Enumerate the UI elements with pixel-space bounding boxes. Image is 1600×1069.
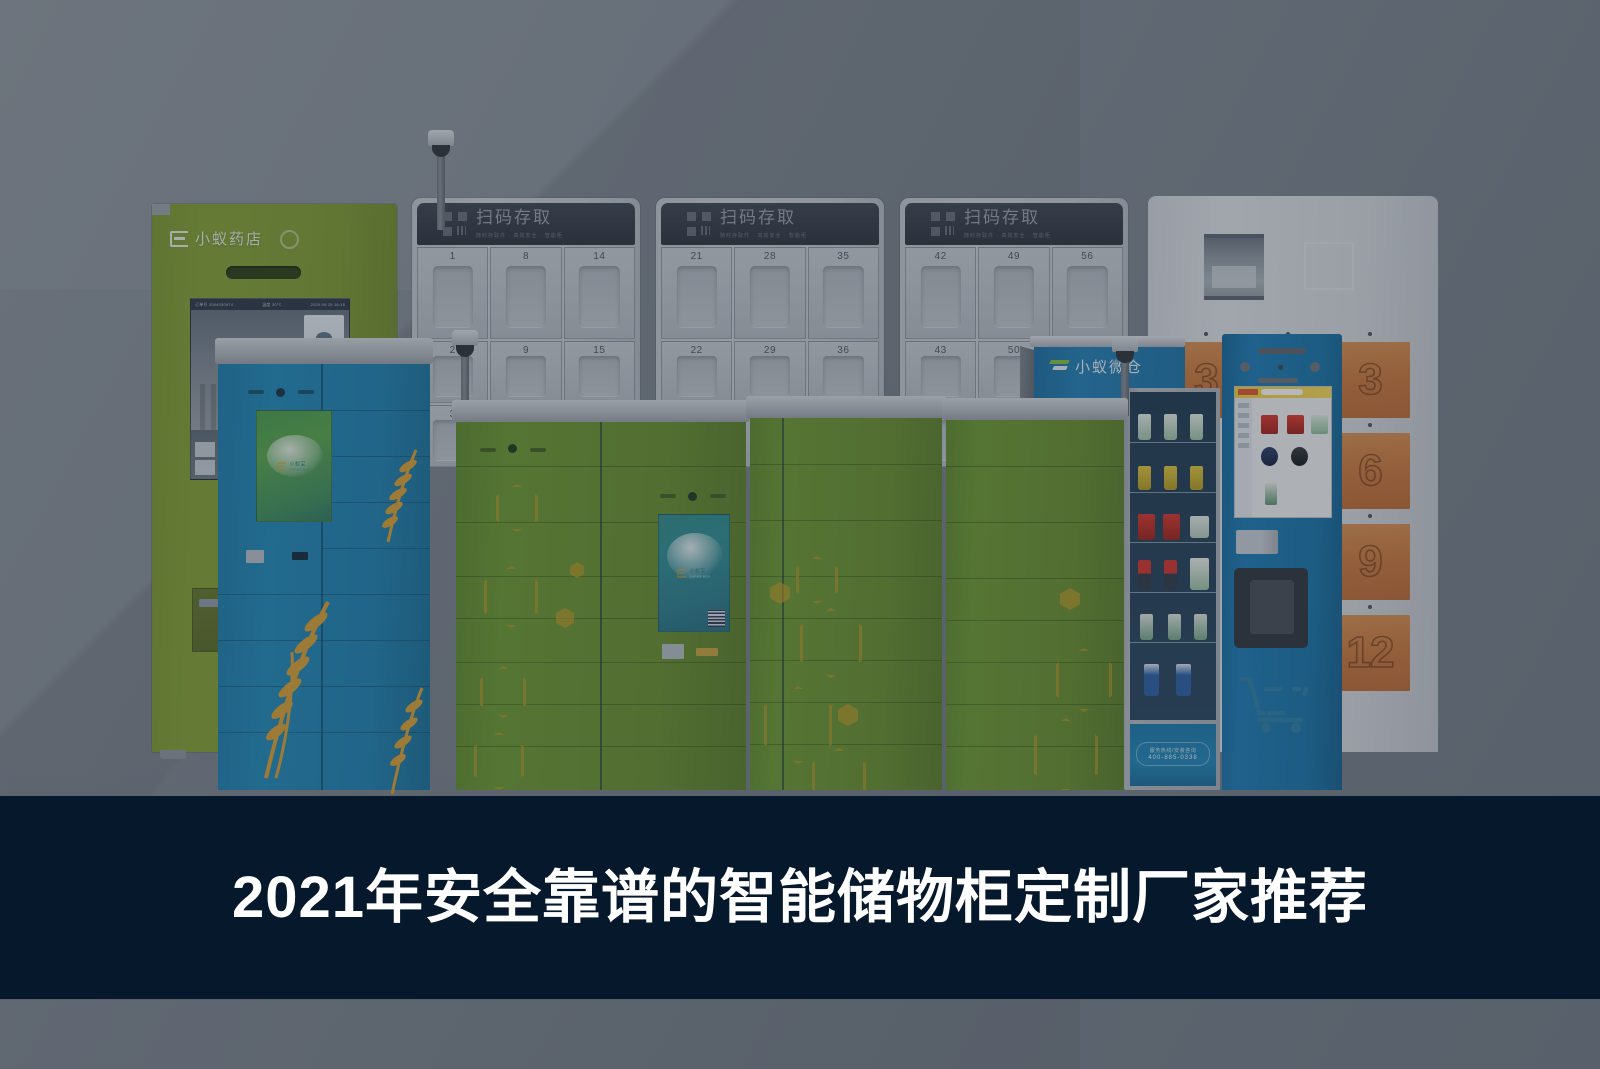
catalog-logo-icon (1238, 389, 1258, 395)
product-bottle (1138, 414, 1151, 440)
locker-number: 49 (979, 251, 1048, 262)
locker-indicator-slot (480, 448, 496, 452)
product-can (1164, 466, 1177, 490)
locker-top-cap (452, 400, 750, 422)
orange-panel[interactable]: 12 (1330, 615, 1410, 691)
category-item[interactable] (1238, 403, 1249, 408)
locker-cell[interactable]: 9 (490, 341, 561, 403)
locker-number: 29 (735, 345, 804, 356)
locker-window (579, 356, 619, 397)
green-smart-locker-left[interactable]: 小蚁宝 SUPER BOX (456, 400, 746, 790)
locker-camera-icon (688, 492, 697, 501)
locker-cell[interactable]: 49 (978, 247, 1049, 339)
screen-brand-logo: 小蚁宝 SUPER BOX (677, 568, 710, 579)
canopy-cap (1030, 336, 1185, 347)
locker-window (677, 356, 717, 397)
product-box (1190, 558, 1209, 590)
panel-dot (1368, 423, 1372, 427)
scan-locker-bank-1[interactable]: 扫码存取 随时存取件 · 高效安全 · 智能柜 1 8 14 2 9 15 3 … (412, 198, 640, 434)
locker-number: 28 (735, 251, 804, 262)
locker-cell[interactable]: 56 (1052, 247, 1123, 339)
panel-dot (1368, 332, 1372, 336)
catalog-product[interactable] (1287, 415, 1304, 434)
catalog-product[interactable] (1291, 447, 1308, 466)
kiosk-sensor-dot (1310, 362, 1320, 372)
locker-window (750, 266, 790, 328)
green-smart-locker-middle[interactable] (750, 396, 942, 790)
kiosk-camera-icon (1278, 365, 1283, 370)
ant-leaf-icon (1050, 360, 1069, 373)
screen-brand-label: 小蚁宝 (289, 461, 310, 468)
product-box (1190, 516, 1209, 538)
hexagon-graphic (496, 484, 538, 532)
kiosk-top-cut (152, 204, 170, 215)
locker-body: 小蚁宝 SUPER BOX (456, 422, 746, 790)
locker-camera-icon (276, 388, 285, 397)
product-bottle (1164, 414, 1177, 440)
hotline-label: 服务热线/安装咨询 (1150, 747, 1197, 754)
thumbnail-item (195, 460, 215, 475)
scan-bank-title: 扫码存取 (476, 208, 552, 227)
locker-printer-slot[interactable] (696, 648, 718, 656)
category-item[interactable] (1238, 423, 1249, 428)
orange-panel[interactable]: 6 (1330, 433, 1410, 509)
locker-body (946, 420, 1124, 790)
kiosk-foot (160, 750, 186, 759)
wheat-sheaf-graphic (368, 682, 434, 802)
product-bottle (1176, 664, 1191, 696)
vending-display-case (1130, 392, 1216, 720)
hexagon-graphic (812, 748, 866, 790)
kiosk-screen-statusbar: 订单号 2004030974 温度 30°C 2020.09.25 16:15 (191, 299, 349, 310)
product-bottle (1194, 614, 1207, 640)
locker-window (921, 356, 961, 397)
product-box (1138, 514, 1155, 540)
page-title: 2021年安全靠谱的智能储物柜定制厂家推荐 (232, 869, 1368, 927)
locker-body (750, 418, 942, 790)
product-bottle (1144, 664, 1159, 696)
right-vending-kiosk[interactable] (1222, 334, 1342, 790)
locker-cell[interactable]: 28 (734, 247, 805, 339)
product-can (1138, 466, 1151, 490)
locker-indicator-slot (710, 494, 726, 498)
scan-bank-title: 扫码存取 (720, 208, 796, 227)
locker-scanner[interactable] (292, 552, 308, 560)
vending-machine[interactable]: 服务热线/安装咨询 400-885-0338 (1124, 388, 1220, 790)
locker-window (1067, 266, 1107, 328)
locker-window (677, 266, 717, 328)
orange-panel[interactable]: 9 (1330, 524, 1410, 600)
screen-brand-label: 小蚁宝 (689, 568, 710, 575)
locker-cell[interactable]: 15 (564, 341, 635, 403)
wheat-sheaf-graphic (368, 446, 428, 556)
hexagon-graphic (764, 686, 832, 764)
catalog-product[interactable] (1261, 447, 1278, 466)
dome-camera-icon (452, 330, 478, 408)
catalog-search-box[interactable] (1261, 389, 1303, 395)
hexagon-graphic (796, 556, 838, 604)
locker-window (579, 266, 619, 328)
orange-panel[interactable]: 3 (1330, 342, 1410, 418)
vending-hotline-badge: 服务热线/安装咨询 400-885-0338 (1136, 742, 1210, 766)
locker-window (994, 266, 1034, 328)
panel-dot (1368, 514, 1372, 518)
kiosk-dispense-slot[interactable] (226, 266, 301, 279)
cabinet-poster-image (1204, 234, 1264, 300)
locker-cell[interactable]: 43 (905, 341, 976, 403)
dome-camera-icon (428, 130, 454, 230)
locker-camera-icon (508, 444, 517, 453)
locker-window (506, 266, 546, 328)
orange-panel-number: 12 (1347, 631, 1394, 675)
caption-band: 2021年安全靠谱的智能储物柜定制厂家推荐 (0, 796, 1600, 999)
pharmacy-brand-label: 小蚁药店 (195, 228, 263, 249)
locker-number: 22 (662, 345, 731, 356)
hexagon-graphic (480, 666, 526, 718)
card-reader[interactable] (1236, 530, 1278, 554)
locker-number: 9 (491, 345, 560, 356)
hotline-number: 400-885-0338 (1148, 755, 1197, 761)
pharmacy-kiosk-logo: 小蚁药店 (170, 228, 263, 249)
locker-window (921, 266, 961, 328)
category-item[interactable] (1238, 433, 1249, 438)
locker-indicator-slot (298, 390, 314, 394)
hexagon-graphic (1034, 718, 1098, 790)
thumbnail-item (195, 442, 215, 457)
orange-panel-number: 6 (1358, 449, 1381, 493)
screen-brand-logo: 小蚁宝 SUPER BOX (277, 461, 310, 472)
locker-top-cap (746, 396, 946, 418)
catalog-category-sidebar[interactable] (1235, 398, 1252, 517)
product-bottle (1140, 614, 1153, 640)
locker-indicator-slot (660, 494, 676, 498)
locker-cell[interactable]: 1 (417, 247, 488, 339)
locker-touchscreen[interactable]: 小蚁宝 SUPER BOX (256, 410, 332, 522)
panel-dot (1368, 605, 1372, 609)
scan-bank-header: 扫码存取 随时存取件 · 高效安全 · 智能柜 (905, 203, 1123, 245)
cabinet-ghost-panel (1304, 242, 1354, 290)
product-can (1190, 466, 1203, 490)
locker-number: 8 (491, 251, 560, 262)
locker-cell[interactable]: 35 (808, 247, 879, 339)
hexagon-graphic (770, 582, 790, 604)
category-item[interactable] (1238, 443, 1249, 448)
locker-cell[interactable]: 22 (661, 341, 732, 403)
kiosk-sensor-dot (1240, 362, 1250, 372)
locker-indicator-slot (530, 448, 546, 452)
locker-keypad[interactable] (662, 644, 684, 659)
catalog-header (1235, 387, 1331, 398)
product-bottle (1190, 414, 1203, 440)
scan-bank-title: 扫码存取 (964, 208, 1040, 227)
kiosk-indicator-ring (280, 230, 299, 249)
locker-keypad[interactable] (246, 550, 264, 563)
locker-cell[interactable]: 8 (490, 247, 561, 339)
hexagon-graphic (556, 608, 574, 628)
locker-number: 42 (906, 251, 975, 262)
kiosk-speaker-slot (1258, 378, 1298, 383)
qr-code-icon (931, 212, 955, 236)
locker-number: 1 (418, 251, 487, 262)
locker-number: 43 (906, 345, 975, 356)
catalog-product[interactable] (1311, 415, 1328, 434)
locker-top-cap (215, 338, 433, 364)
locker-window (823, 266, 863, 328)
scan-bank-subtitle: 随时存取件 · 高效安全 · 智能柜 (476, 232, 563, 239)
locker-cell[interactable]: 21 (661, 247, 732, 339)
screen-brand-sub: SUPER BOX (289, 468, 310, 472)
locker-number: 35 (809, 251, 878, 262)
kiosk-order-id: 订单号 2004030974 (195, 302, 233, 308)
category-item[interactable] (1238, 413, 1249, 418)
scan-bank-subtitle: 随时存取件 · 高效安全 · 智能柜 (964, 232, 1051, 239)
locker-window (750, 356, 790, 397)
screen-brand-sub: SUPER BOX (689, 575, 710, 579)
scan-bank-subtitle: 随时存取件 · 高效安全 · 智能柜 (720, 232, 807, 239)
locker-cell[interactable]: 14 (564, 247, 635, 339)
hexagon-graphic (1056, 648, 1112, 712)
qr-code-icon (687, 212, 711, 236)
locker-cell[interactable]: 29 (734, 341, 805, 403)
locker-window (506, 356, 546, 397)
locker-body: 小蚁宝 SUPER BOX (218, 364, 430, 790)
product-bottle (1164, 560, 1177, 590)
product-bottle (1138, 560, 1151, 590)
product-bottle (1168, 614, 1181, 640)
locker-touchscreen[interactable]: 小蚁宝 SUPER BOX (658, 514, 730, 632)
pin-pad[interactable] (1234, 568, 1308, 648)
locker-number: 15 (565, 345, 634, 356)
kiosk-screen-thumbnails (195, 442, 215, 475)
kiosk-catalog-screen[interactable] (1234, 386, 1332, 518)
locker-cell[interactable]: 42 (905, 247, 976, 339)
locker-window (823, 356, 863, 397)
scan-bank-header: 扫码存取 随时存取件 · 高效安全 · 智能柜 (661, 203, 879, 245)
blue-smart-locker[interactable]: 小蚁宝 SUPER BOX (218, 338, 430, 790)
ant-brand-icon (277, 462, 286, 470)
hexagon-graphic (1060, 588, 1080, 610)
locker-window (433, 266, 473, 328)
panel-dot (1204, 332, 1208, 336)
locker-number: 14 (565, 251, 634, 262)
catalog-product[interactable] (1265, 483, 1277, 505)
qr-code-icon (708, 610, 725, 627)
catalog-product[interactable] (1261, 415, 1278, 434)
wheat-sheaf-graphic (236, 592, 356, 792)
kiosk-temperature: 温度 30°C (262, 302, 281, 308)
locker-number: 21 (662, 251, 731, 262)
product-box (1163, 514, 1180, 540)
screenshot-stage: 小蚁药店 订单号 2004030974 温度 30°C 2020.09.25 1… (0, 0, 1600, 1069)
locker-cell[interactable]: 36 (808, 341, 879, 403)
vending-bottom-panel: 服务热线/安装咨询 400-885-0338 (1130, 724, 1216, 786)
hexagon-graphic (838, 704, 858, 726)
green-smart-locker-right[interactable] (946, 398, 1124, 790)
orange-panel-number: 3 (1358, 358, 1381, 402)
orange-panel-number: 9 (1358, 540, 1381, 584)
ant-brand-icon (170, 231, 188, 247)
ant-brand-icon (677, 569, 686, 577)
locker-number: 56 (1053, 251, 1122, 262)
kiosk-timestamp: 2020.09.25 16:15 (311, 302, 345, 307)
locker-top-cap (942, 398, 1128, 420)
locker-indicator-slot (248, 390, 264, 394)
locker-number: 36 (809, 345, 878, 356)
kiosk-led-strip (1258, 348, 1306, 354)
shopping-cart-icon (1238, 670, 1316, 734)
hexagon-graphic (474, 732, 524, 790)
